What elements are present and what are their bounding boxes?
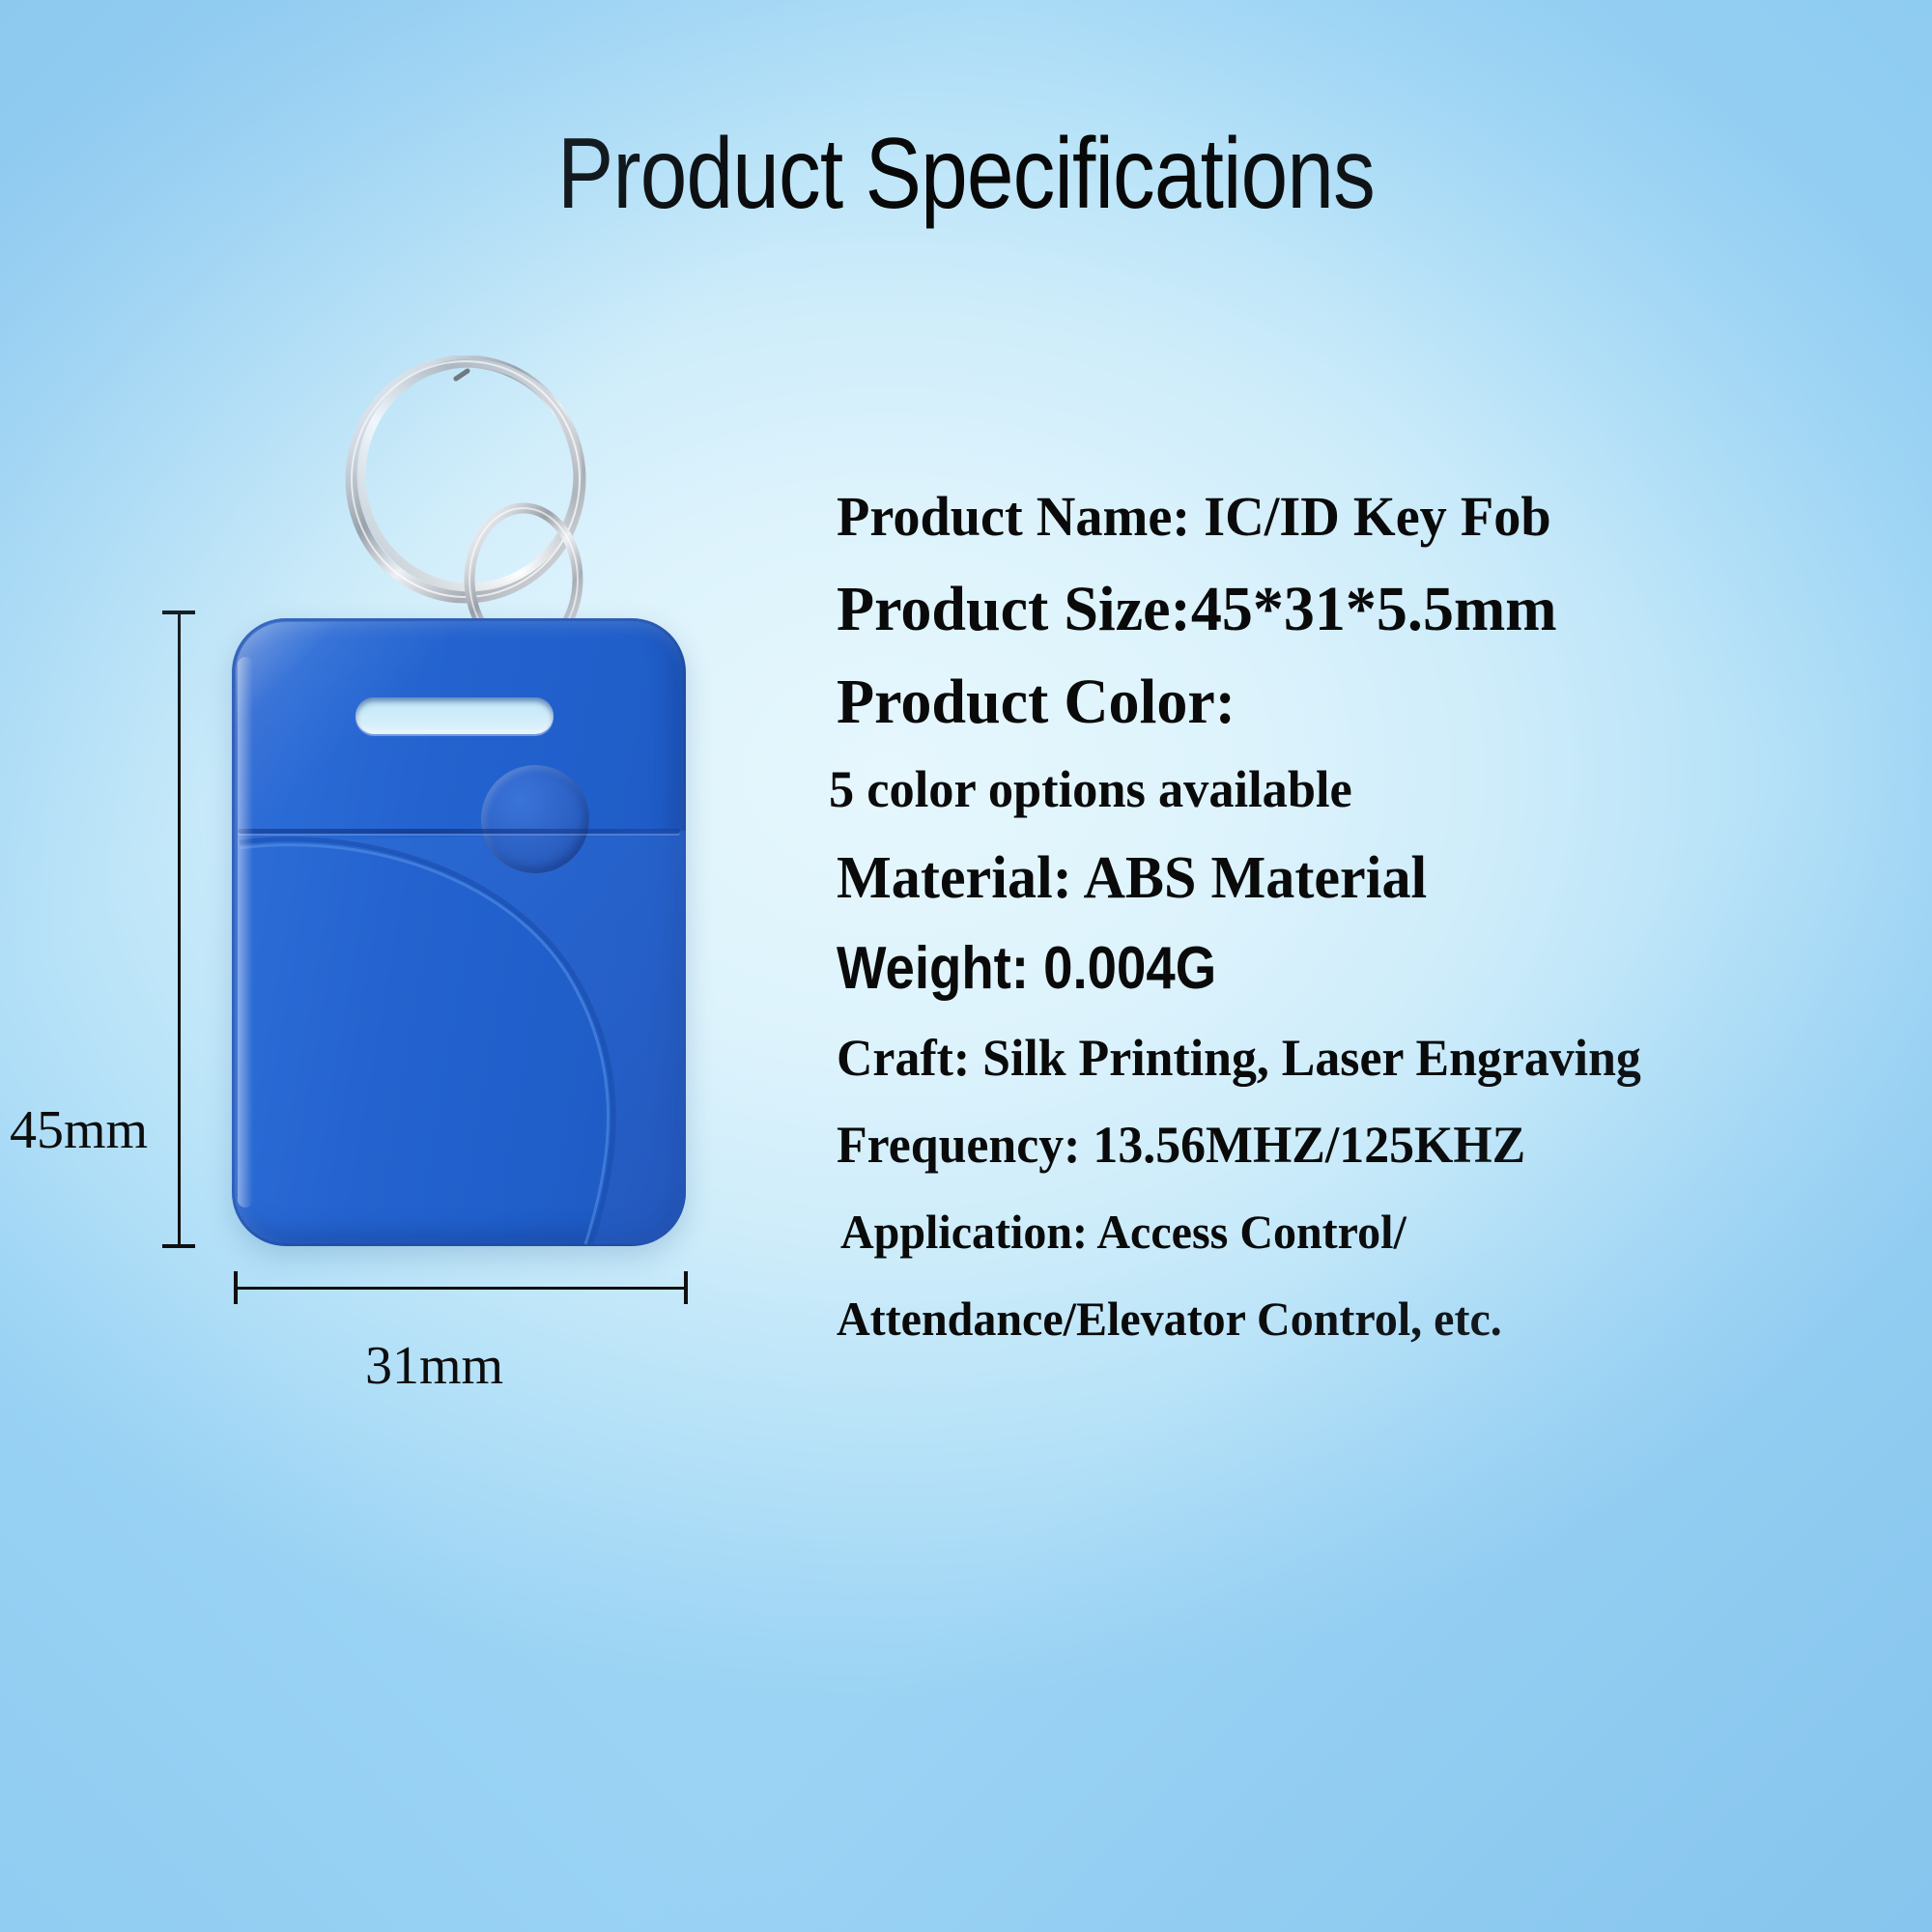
spec-frequency: Frequency: 13.56MHZ/125KHZ <box>837 1119 1875 1171</box>
specifications-list: Product Name: IC/ID Key Fob Product Size… <box>837 489 1918 1343</box>
width-dimension-line <box>234 1285 688 1291</box>
fob-slot-cutout <box>355 697 554 734</box>
spec-weight: Weight: 0.004G <box>837 939 1789 999</box>
spec-application-1: Application: Access Control/ <box>840 1207 1875 1256</box>
fob-seam-line <box>238 829 680 834</box>
key-ring-icon <box>340 355 630 636</box>
spec-material: Material: ABS Material <box>837 848 1886 908</box>
key-fob-body <box>232 618 686 1246</box>
height-dimension-label: 45mm <box>10 1099 148 1161</box>
spec-product-name: Product Name: IC/ID Key Fob <box>837 489 1886 545</box>
spec-color-options: 5 color options available <box>829 763 1886 815</box>
fob-dot-graphic <box>481 765 589 873</box>
spec-application-2: Attendance/Elevator Control, etc. <box>837 1294 1875 1343</box>
width-dimension-label: 31mm <box>365 1335 503 1397</box>
spec-product-color: Product Color: <box>837 670 1886 734</box>
spec-sheet-page: Product Specifications <box>0 0 1932 1932</box>
spec-product-size: Product Size:45*31*5.5mm <box>837 578 1886 641</box>
spec-craft: Craft: Silk Printing, Laser Engraving <box>837 1032 1875 1084</box>
product-image: 45mm 31mm <box>0 0 831 1932</box>
height-dimension-line <box>176 611 182 1248</box>
